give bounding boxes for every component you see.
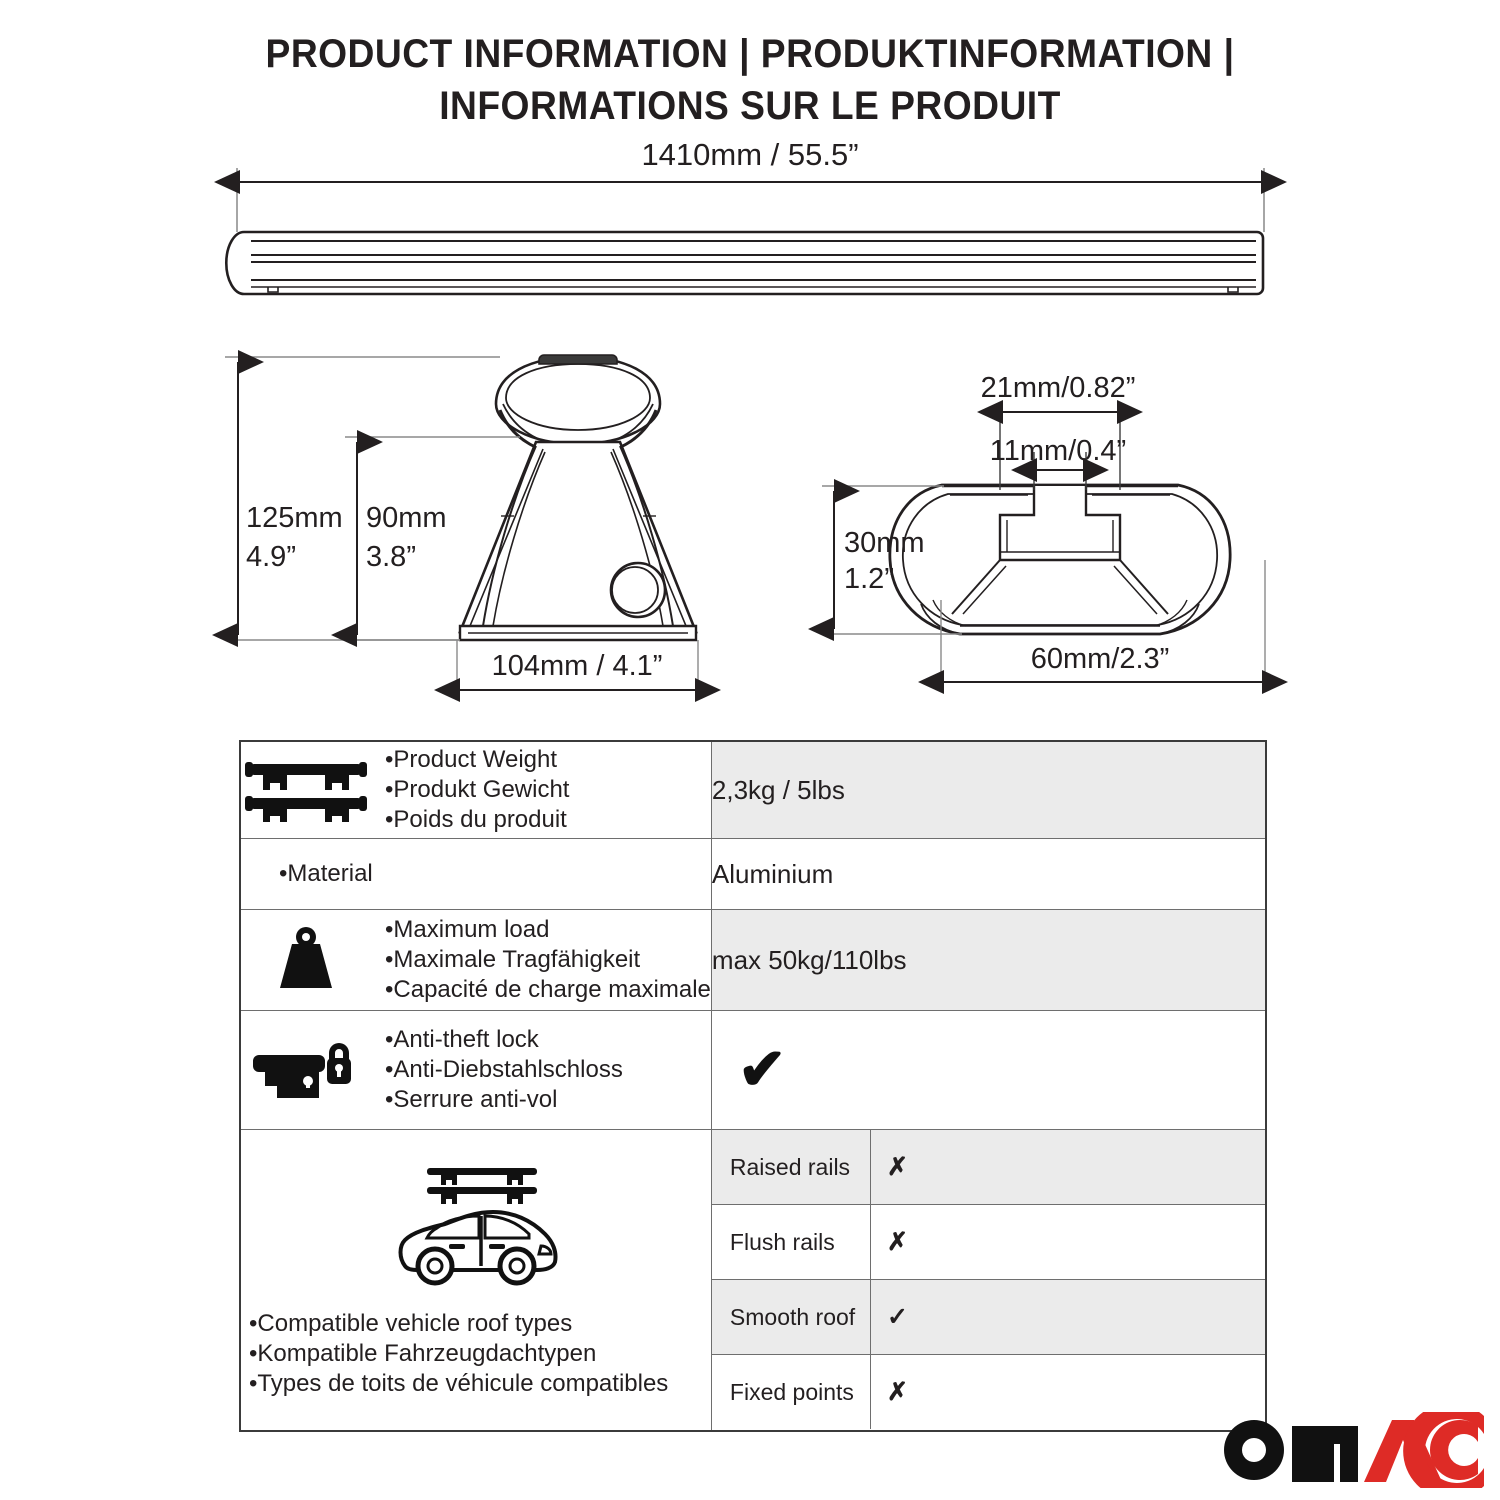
cell-value-roof-types: Raised rails ✗ Flush rails ✗ Smooth roof… xyxy=(711,1130,1266,1432)
table-row-material: •Material Aluminium xyxy=(240,839,1266,910)
compat-label-raised-rails: Raised rails xyxy=(712,1130,871,1205)
cell-label-maximum-load: •Maximum load •Maximale Tragfähigkeit •C… xyxy=(240,910,711,1011)
label-material: •Material xyxy=(241,859,373,889)
dim-90mm-inch: 3.8” xyxy=(366,541,416,573)
dim-11mm: 11mm/0.4” xyxy=(990,435,1126,467)
tower-total-height-dimension: 125mm 4.9” xyxy=(225,357,500,640)
label-anti-theft-lock: •Anti-theft lock •Anti-Diebstahlschloss … xyxy=(385,1025,623,1115)
cell-label-anti-theft-lock: •Anti-theft lock •Anti-Diebstahlschloss … xyxy=(240,1011,711,1130)
profile-height-dimension: 30mm 1.2” xyxy=(822,486,962,634)
label-maximum-load: •Maximum load •Maximale Tragfähigkeit •C… xyxy=(385,915,711,1005)
compat-mark-raised-rails: ✗ xyxy=(871,1130,1266,1205)
profile-outer-slot-dimension: 21mm/0.82” xyxy=(981,372,1136,490)
cell-label-product-weight: •Product Weight •Produkt Gewicht •Poids … xyxy=(240,741,711,839)
profile-width-dimension: 60mm/2.3” xyxy=(941,560,1265,692)
car-with-bars-icon xyxy=(389,1162,565,1297)
bar-length-label: 1410mm / 55.5” xyxy=(641,137,858,172)
compat-row-smooth-roof: Smooth roof ✓ xyxy=(712,1280,1265,1355)
bar-profile-cross-section xyxy=(890,485,1230,634)
tower-inner-height-dimension: 90mm 3.8” xyxy=(345,437,520,640)
profile-inner-slot-dimension: 11mm/0.4” xyxy=(990,435,1126,490)
weight-icon xyxy=(241,926,371,994)
table-row-product-weight: •Product Weight •Produkt Gewicht •Poids … xyxy=(240,741,1266,839)
table-row-roof-types: •Compatible vehicle roof types •Kompatib… xyxy=(240,1130,1266,1432)
cell-value-anti-theft-lock: ✔ xyxy=(711,1011,1266,1130)
tower-width-dimension: 104mm / 4.1” xyxy=(457,640,698,700)
page-title-line-1: PRODUCT INFORMATION | PRODUKTINFORMATION… xyxy=(53,28,1448,80)
cell-value-product-weight: 2,3kg / 5lbs xyxy=(711,741,1266,839)
compat-label-flush-rails: Flush rails xyxy=(712,1205,871,1280)
dim-21mm: 21mm/0.82” xyxy=(981,372,1136,404)
page-title-line-2: INFORMATIONS SUR LE PRODUIT xyxy=(53,80,1448,132)
label-product-weight: •Product Weight •Produkt Gewicht •Poids … xyxy=(385,745,569,835)
roof-compatibility-table: Raised rails ✗ Flush rails ✗ Smooth roof… xyxy=(712,1130,1265,1429)
page-title: PRODUCT INFORMATION | PRODUKTINFORMATION… xyxy=(0,28,1500,132)
roof-bars-icon xyxy=(241,758,371,822)
omac-logo: OMAC xyxy=(1222,1412,1484,1488)
roof-bar-top-view xyxy=(226,232,1263,294)
product-information-page: PRODUCT INFORMATION | PRODUKTINFORMATION… xyxy=(0,0,1500,1500)
compat-row-flush-rails: Flush rails ✗ xyxy=(712,1205,1265,1280)
compat-label-fixed-points: Fixed points xyxy=(712,1355,871,1430)
dim-60mm: 60mm/2.3” xyxy=(1031,643,1170,675)
table-row-anti-theft-lock: •Anti-theft lock •Anti-Diebstahlschloss … xyxy=(240,1011,1266,1130)
cell-value-material: Aluminium xyxy=(711,839,1266,910)
compat-row-raised-rails: Raised rails ✗ xyxy=(712,1130,1265,1205)
cell-label-roof-types: •Compatible vehicle roof types •Kompatib… xyxy=(240,1130,711,1432)
dim-30mm-inch: 1.2” xyxy=(844,563,894,595)
dim-30mm: 30mm xyxy=(844,527,925,559)
label-roof-types: •Compatible vehicle roof types •Kompatib… xyxy=(249,1309,668,1399)
dim-104mm: 104mm / 4.1” xyxy=(492,650,663,682)
bar-length-dimension: 1410mm / 55.5” xyxy=(237,137,1264,232)
dim-90mm: 90mm xyxy=(366,502,447,534)
dim-125mm: 125mm xyxy=(246,502,343,534)
compat-mark-flush-rails: ✗ xyxy=(871,1205,1266,1280)
compat-mark-smooth-roof: ✓ xyxy=(871,1280,1266,1355)
compat-mark-fixed-points: ✗ xyxy=(871,1355,1266,1430)
checkmark-icon: ✔ xyxy=(712,1041,787,1099)
cell-label-material: •Material xyxy=(240,839,711,910)
dim-125mm-inch: 4.9” xyxy=(246,541,296,573)
compat-label-smooth-roof: Smooth roof xyxy=(712,1280,871,1355)
table-row-maximum-load: •Maximum load •Maximale Tragfähigkeit •C… xyxy=(240,910,1266,1011)
lock-icon xyxy=(241,1037,371,1103)
tower-side-view xyxy=(460,355,696,640)
compat-row-fixed-points: Fixed points ✗ xyxy=(712,1355,1265,1430)
product-spec-table: •Product Weight •Produkt Gewicht •Poids … xyxy=(239,740,1267,1432)
cell-value-maximum-load: max 50kg/110lbs xyxy=(711,910,1266,1011)
